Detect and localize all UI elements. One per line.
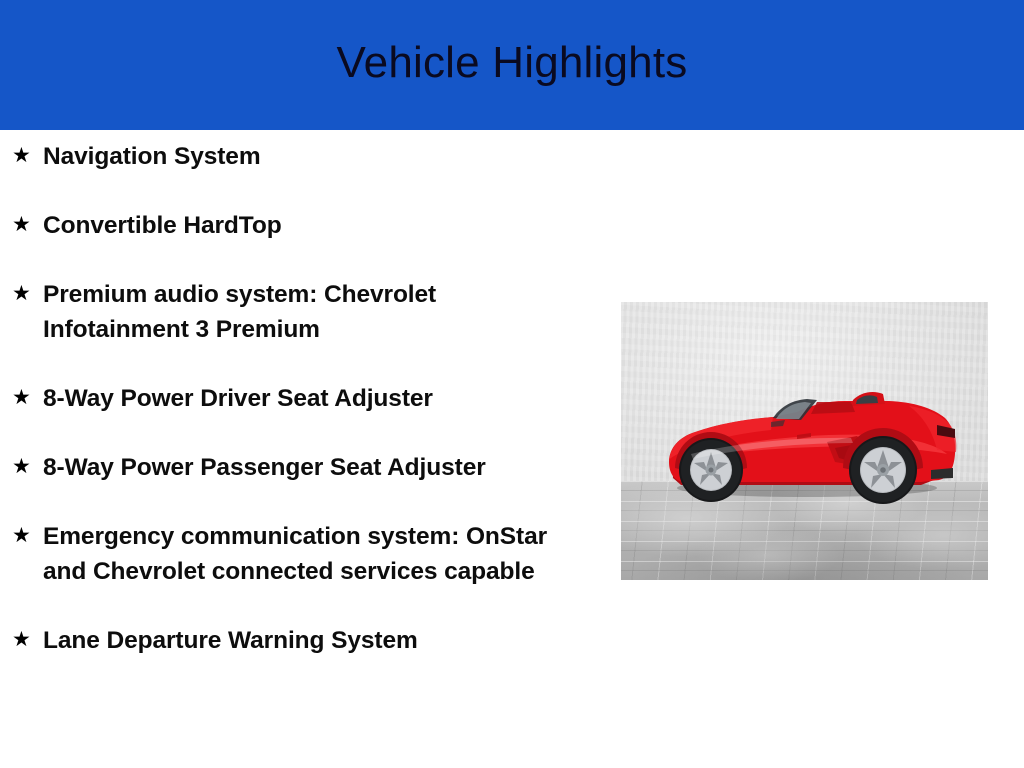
list-item-label: 8-Way Power Passenger Seat Adjuster (43, 450, 565, 485)
list-item: ★ Lane Departure Warning System (0, 623, 600, 658)
list-item-label: Lane Departure Warning System (43, 623, 565, 658)
star-bullet-icon: ★ (12, 449, 43, 484)
list-item: ★ Emergency communication system: OnStar… (0, 519, 600, 589)
vehicle-photo (621, 302, 988, 580)
slide-header-band: Vehicle Highlights (0, 0, 1024, 130)
star-bullet-icon: ★ (12, 276, 43, 311)
photo-background-wall (621, 302, 988, 481)
list-item-label: Convertible HardTop (43, 208, 565, 243)
list-item-label: Navigation System (43, 139, 565, 174)
list-item: ★ Premium audio system: Chevrolet Infota… (0, 277, 600, 347)
photo-ground-pavers (621, 481, 988, 580)
star-bullet-icon: ★ (12, 518, 43, 553)
slide-root: Vehicle Highlights ★ Navigation System ★… (0, 0, 1024, 768)
list-item-label: Premium audio system: Chevrolet Infotain… (43, 277, 565, 347)
star-bullet-icon: ★ (12, 138, 43, 173)
list-item-label: 8-Way Power Driver Seat Adjuster (43, 381, 565, 416)
star-bullet-icon: ★ (12, 622, 43, 657)
vehicle-highlights-list: ★ Navigation System ★ Convertible HardTo… (0, 139, 600, 658)
list-item-label: Emergency communication system: OnStar a… (43, 519, 565, 589)
list-item: ★ 8-Way Power Passenger Seat Adjuster (0, 450, 600, 485)
list-item: ★ 8-Way Power Driver Seat Adjuster (0, 381, 600, 416)
list-item: ★ Navigation System (0, 139, 600, 174)
page-title: Vehicle Highlights (337, 41, 688, 85)
star-bullet-icon: ★ (12, 207, 43, 242)
star-bullet-icon: ★ (12, 380, 43, 415)
list-item: ★ Convertible HardTop (0, 208, 600, 243)
